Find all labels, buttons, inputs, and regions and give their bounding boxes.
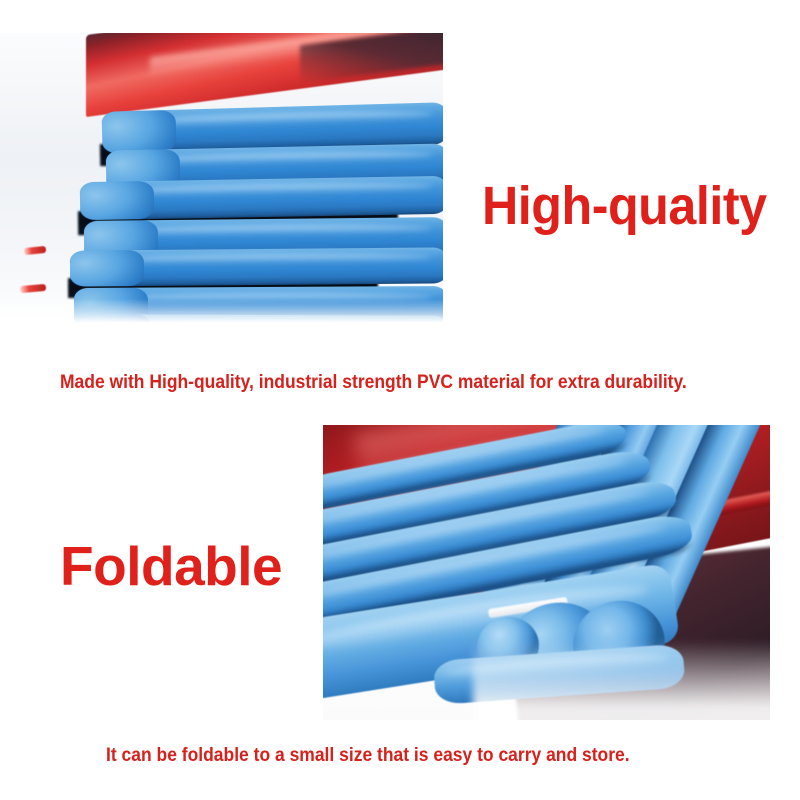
foldable-product-photo — [323, 425, 770, 720]
photo-bottom-fade — [473, 640, 770, 720]
high-quality-product-photo — [0, 33, 443, 333]
photo-floor-fade — [0, 299, 443, 333]
headline-foldable: Foldable — [60, 534, 282, 598]
headline-high-quality: High-quality — [482, 175, 767, 237]
caption-foldable: It can be foldable to a small size that … — [106, 745, 630, 767]
blue-fold-3 — [70, 247, 443, 286]
caption-high-quality: Made with High-quality, industrial stren… — [60, 372, 687, 394]
blue-fold-2 — [80, 176, 443, 220]
